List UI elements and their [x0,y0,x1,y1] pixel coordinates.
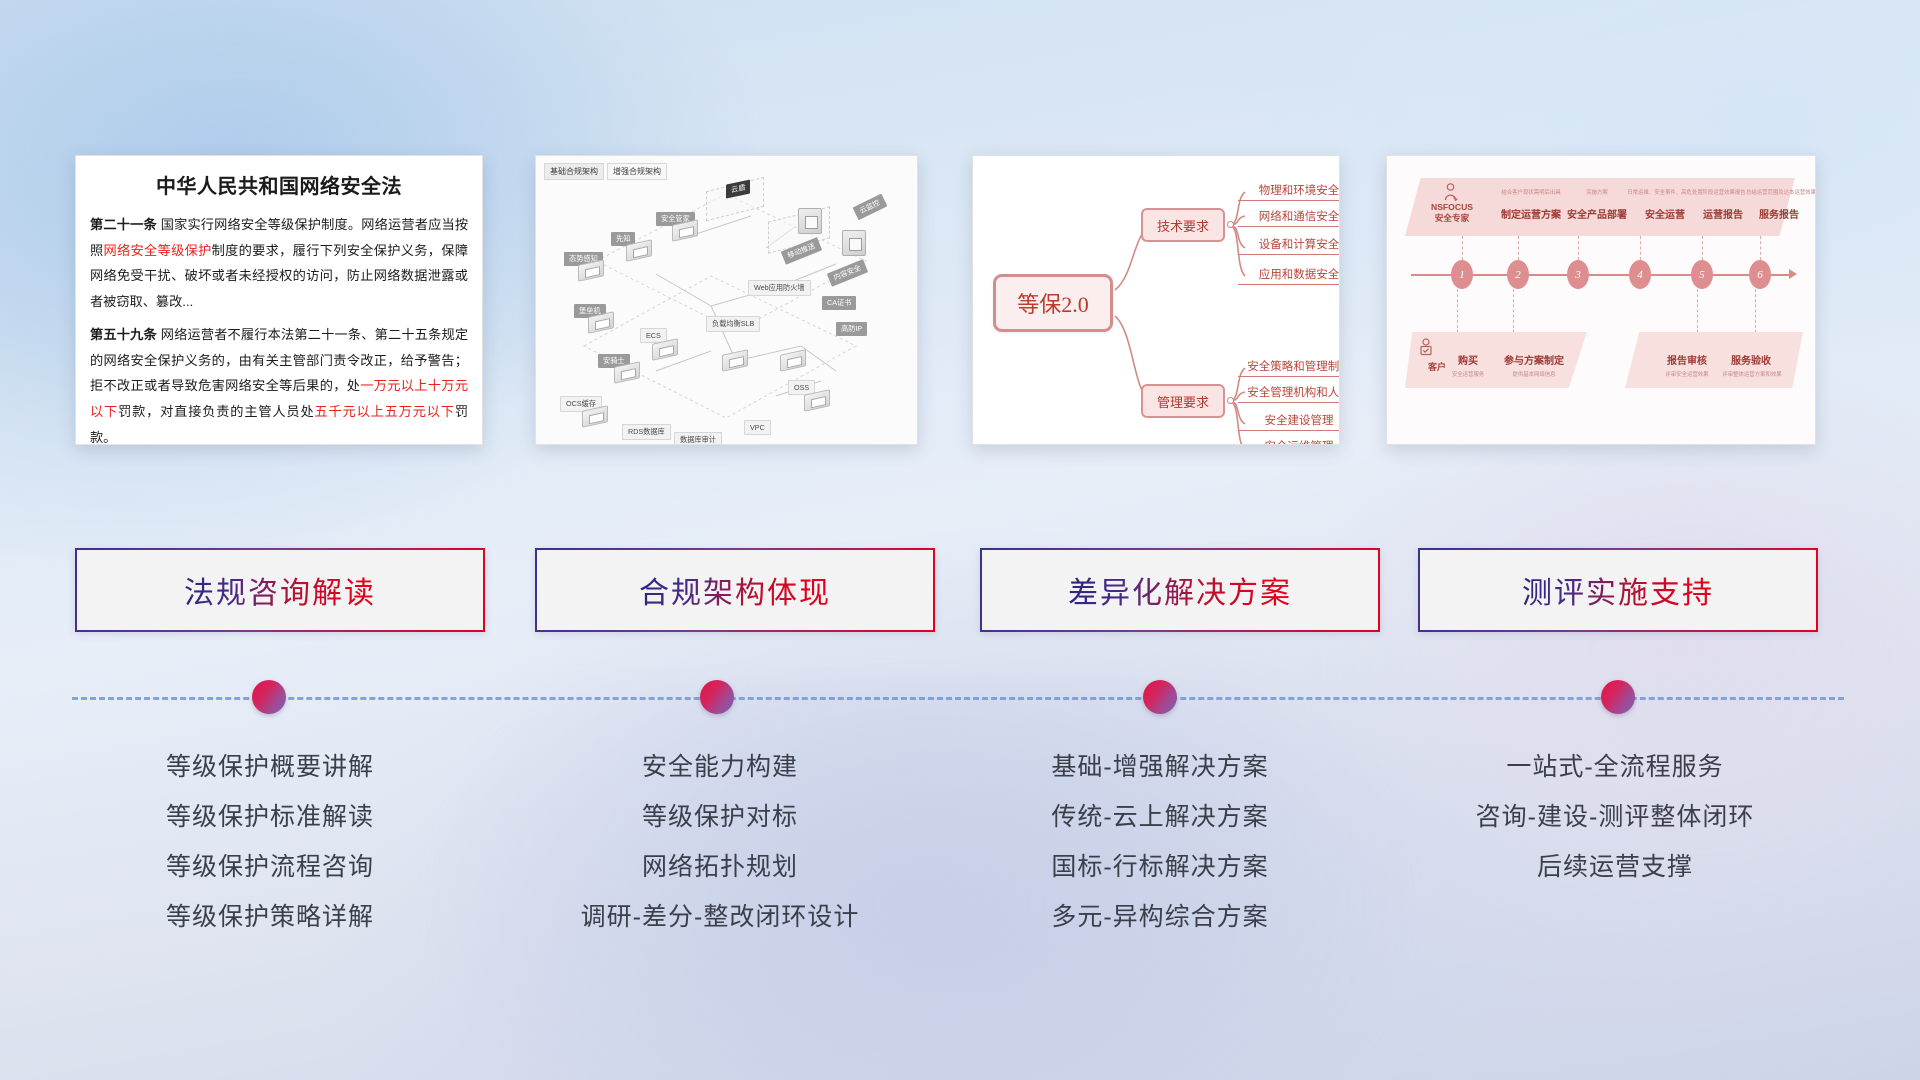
flow-expert-name-5: 服务报告 [1743,206,1815,221]
architecture-node-slb: 负载均衡SLB [706,316,760,332]
mindmap-leaf-app-data: 应用和数据安全 [1238,266,1340,285]
list-item: 国标-行标解决方案 [945,842,1375,892]
flow-tick [1457,289,1458,333]
law-article-21: 第二十一条 国家实行网络安全等级保护制度。网络运营者应当按照网络安全等级保护制度… [90,212,468,315]
law-article-59: 第五十九条 网络运营者不履行本法第二十一条、第二十五条规定的网络安全保护义务的，… [90,322,468,445]
architecture-icon-box [722,349,748,372]
architecture-canvas: 基础合规架构 增强合规架构 云盾 安全管家 [536,156,917,444]
list-item: 调研-差分-整改闭环设计 [505,892,935,942]
flow-canvas: NSFOCUS 安全专家 结合客户现状需明后出具 制定运营方案 实施方案 安全产… [1387,156,1815,444]
law-title: 中华人民共和国网络安全法 [90,170,468,199]
flow-step-6: 6 [1749,260,1771,289]
flow-timeline-arrow-icon [1789,269,1797,279]
expert-person-icon [1443,183,1458,201]
mindmap-leaf-org-personnel: 安全管理机构和人员 [1238,384,1340,403]
mindmap-leaf-policy-system: 安全策略和管理制度 [1238,358,1340,377]
timeline-dot-3[interactable] [1143,680,1177,714]
list-item: 后续运营支撑 [1400,842,1830,892]
mindmap-collapse-icon[interactable] [1227,221,1234,228]
list-item: 安全能力构建 [505,742,935,792]
tab-enhanced-architecture[interactable]: 增强合规架构 [607,163,667,180]
flow-tick [1697,289,1698,333]
flow-brand-line1: NSFOCUS [1423,202,1481,213]
bullet-column-4: 一站式-全流程服务 咨询-建设-测评整体闭环 后续运营支撑 [1400,742,1830,892]
list-item: 咨询-建设-测评整体闭环 [1400,792,1830,842]
timeline-dot-1[interactable] [252,680,286,714]
flow-brand-label: NSFOCUS 安全专家 [1423,202,1481,223]
heading-label-3: 差异化解决方案 [1068,568,1292,612]
mindmap-branch-management[interactable]: 管理要求 [1141,384,1225,418]
flow-customer-name-2: 参与方案制定 [1497,352,1571,367]
law-article-59-highlight-b: 五千元以上五万元以下 [315,404,455,419]
architecture-node-ca-certificate: CA证书 [822,296,856,310]
mindmap-leaf-build-mgmt: 安全建设管理 [1238,412,1340,431]
heading-label-1: 法规咨询解读 [184,568,376,612]
architecture-node-db-audit: 数据库审计 [674,432,722,445]
flow-customer-name-4: 服务验收 [1723,352,1779,367]
flow-tick [1755,289,1756,333]
architecture-icon-server [842,230,866,256]
flow-tick [1640,236,1641,260]
flow-customer-name-3: 报告审核 [1659,352,1715,367]
mindmap-branch-technical[interactable]: 技术要求 [1141,208,1225,242]
heading-box-assessment-support[interactable]: 测评实施支持 [1418,548,1818,632]
architecture-icon-server [798,208,822,234]
card-law-document[interactable]: 中华人民共和国网络安全法 第二十一条 国家实行网络安全等级保护制度。网络运营者应… [75,155,483,445]
list-item: 多元-异构综合方案 [945,892,1375,942]
architecture-node-waf: Web应用防火墙 [748,280,811,296]
law-article-21-label: 第二十一条 [90,217,157,232]
mindmap-leaf-physical-env: 物理和环境安全 [1238,182,1340,201]
card-mindmap-dengbao[interactable]: 等保2.0 技术要求 物理和环境安全 网络和通信安全 设备和计算安全 应用和数据… [972,155,1340,445]
law-article-59-label: 第五十九条 [90,327,157,342]
timeline-dot-2[interactable] [700,680,734,714]
mindmap-core-node[interactable]: 等保2.0 [993,274,1113,332]
architecture-node-rds-database: RDS数据库 [622,424,671,440]
architecture-node-content-safety: 内容安全 [827,259,868,287]
list-item: 基础-增强解决方案 [945,742,1375,792]
heading-box-compliance-architecture[interactable]: 合规架构体现 [535,548,935,632]
heading-box-regulation-consulting[interactable]: 法规咨询解读 [75,548,485,632]
flow-customer-sub-2: 提供基本网络信息 [1495,370,1573,378]
flow-customer-sub-1: 安全运营服务 [1441,370,1495,378]
architecture-tabs[interactable]: 基础合规架构 增强合规架构 [544,163,670,180]
architecture-icon-box [780,349,806,372]
flow-expert-sub-5: 总结运营范围及达本运营效果 [1735,188,1816,196]
flow-step-4: 4 [1629,260,1651,289]
heading-label-2: 合规架构体现 [639,568,831,612]
flow-tick [1462,236,1463,260]
bullet-column-2: 安全能力构建 等级保护对标 网络拓扑规划 调研-差分-整改闭环设计 [505,742,935,942]
timeline-dot-4[interactable] [1601,680,1635,714]
flow-tick [1702,236,1703,260]
heading-box-differentiated-solution[interactable]: 差异化解决方案 [980,548,1380,632]
flow-customer-name-1: 购买 [1445,352,1491,367]
mindmap-leaf-ops-mgmt: 安全运维管理 [1238,438,1340,445]
mindmap-collapse-icon[interactable] [1227,397,1234,404]
flow-step-1: 1 [1451,260,1473,289]
architecture-node-anti-ddos-ip: 高防IP [836,322,867,336]
customer-person-icon [1419,338,1433,358]
list-item: 一站式-全流程服务 [1400,742,1830,792]
flow-step-2: 2 [1507,260,1529,289]
list-item: 等级保护标准解读 [55,792,485,842]
card-cloud-architecture[interactable]: 基础合规架构 增强合规架构 云盾 安全管家 [535,155,918,445]
flow-tick [1760,236,1761,260]
list-item: 网络拓扑规划 [505,842,935,892]
flow-tick [1578,236,1579,260]
tab-basic-architecture[interactable]: 基础合规架构 [544,163,604,180]
bullet-column-3: 基础-增强解决方案 传统-云上解决方案 国标-行标解决方案 多元-异构综合方案 [945,742,1375,942]
flow-step-5: 5 [1691,260,1713,289]
heading-label-4: 测评实施支持 [1522,568,1714,612]
list-item: 等级保护对标 [505,792,935,842]
list-item: 等级保护策略详解 [55,892,485,942]
flow-step-3: 3 [1567,260,1589,289]
list-item: 传统-云上解决方案 [945,792,1375,842]
card-service-flow[interactable]: NSFOCUS 安全专家 结合客户现状需明后出具 制定运营方案 实施方案 安全产… [1386,155,1816,445]
architecture-node-vpc: VPC [744,420,771,435]
list-item: 等级保护概要讲解 [55,742,485,792]
mindmap-canvas: 等保2.0 技术要求 物理和环境安全 网络和通信安全 设备和计算安全 应用和数据… [973,156,1339,444]
law-body: 中华人民共和国网络安全法 第二十一条 国家实行网络安全等级保护制度。网络运营者应… [76,156,482,445]
flow-tick [1518,236,1519,260]
law-article-21-highlight: 网络安全等级保护 [104,243,212,258]
mindmap-leaf-device-compute: 设备和计算安全 [1238,236,1340,255]
bullet-column-1: 等级保护概要讲解 等级保护标准解读 等级保护流程咨询 等级保护策略详解 [55,742,485,942]
list-item: 等级保护流程咨询 [55,842,485,892]
slide-stage: 中华人民共和国网络安全法 第二十一条 国家实行网络安全等级保护制度。网络运营者应… [0,0,1920,1080]
timeline-dashed-line [72,697,1844,700]
mindmap-leaf-network-comm: 网络和通信安全 [1238,208,1340,227]
flow-customer-sub-4: 评审整体运营方案和效果 [1713,370,1791,378]
architecture-node-cloud-monitor: 云监控 [853,194,888,220]
flow-tick [1513,289,1514,333]
law-article-59-text-b: 罚款，对直接负责的主管人员处 [118,404,314,419]
flow-brand-line2: 安全专家 [1423,213,1481,224]
